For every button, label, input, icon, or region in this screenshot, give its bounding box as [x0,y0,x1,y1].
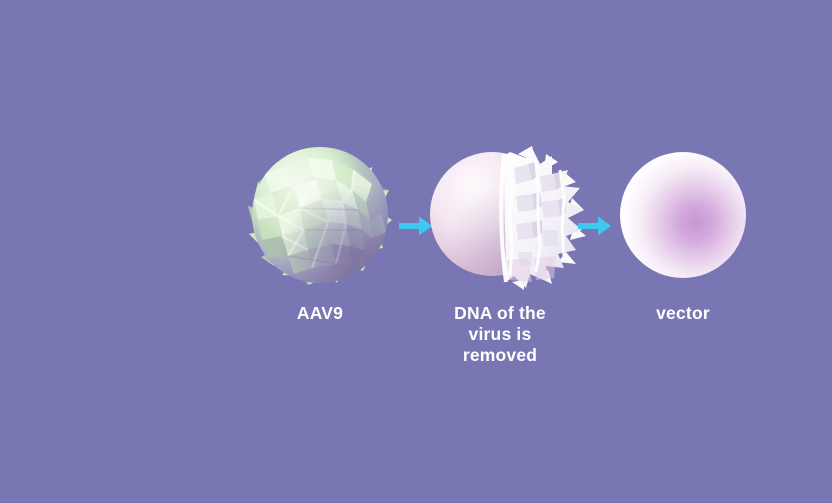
diagram-canvas: AAV9 [0,0,832,503]
step-label-aav9: AAV9 [220,303,420,324]
step-vector: vector [583,140,783,380]
step-label-vector: vector [583,303,783,324]
capsid-shell [501,146,586,290]
capsid-shell-cutaway-icon [400,140,600,290]
aav9-capsid-icon [220,140,420,290]
step-aav9: AAV9 [220,140,420,380]
vector-sphere-icon [583,140,783,290]
step-dna-removed: DNA of the virus is removed [400,140,600,380]
step-label-dna-removed: DNA of the virus is removed [400,303,600,366]
